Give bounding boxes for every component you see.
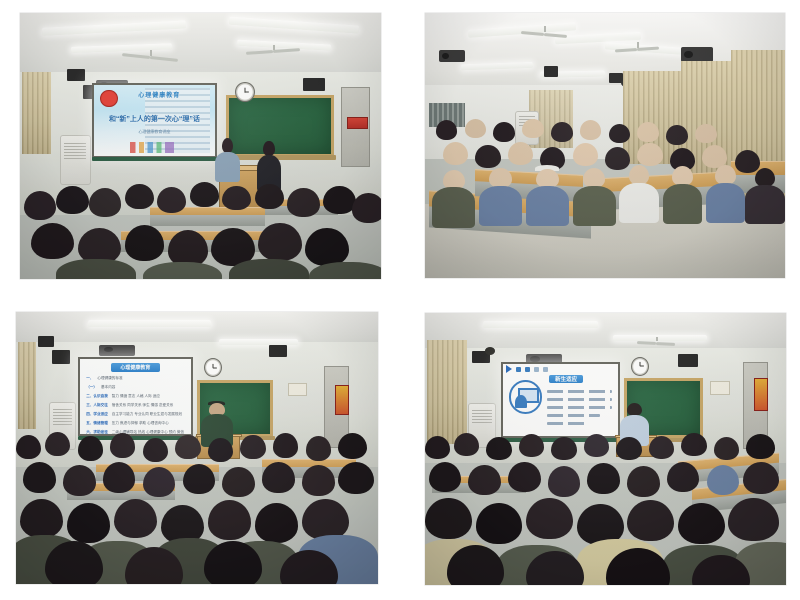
audience-torso <box>229 259 308 279</box>
slide-content: 心理健康教育 一、心理健康的标准 （一）基本内容 二、认识自我智力 情绪 意志 … <box>80 359 192 434</box>
slide-line-body: 宿舍关系 同学关系 师生 情感 恋爱关系 <box>112 404 174 408</box>
wall-notice <box>335 385 349 415</box>
audience-head <box>476 503 523 544</box>
paragraph-line <box>547 390 613 393</box>
audience-head <box>616 437 641 460</box>
person-torso <box>526 186 569 226</box>
lecture-hall-scene-1: 心理健康教育 和“新”上人的第一次心“理”话 心理健康教育讲座 <box>20 13 381 279</box>
toolbar-dot-icon <box>534 367 539 372</box>
audience-head <box>190 182 219 206</box>
ceiling-fan <box>634 337 677 348</box>
audience-head <box>743 462 779 494</box>
slide-decoration <box>130 142 173 153</box>
audience-head <box>323 186 355 214</box>
audience-head <box>306 436 331 460</box>
wall-notice <box>754 378 768 411</box>
audience-head <box>429 462 461 492</box>
person-head <box>222 138 234 153</box>
person-torso <box>663 184 703 224</box>
audience-person <box>432 170 475 226</box>
person-torso <box>432 187 475 227</box>
slide-paragraph <box>547 390 613 430</box>
audience-head <box>16 435 41 459</box>
audience-head <box>258 223 301 261</box>
audience-head <box>31 223 74 260</box>
audience-head <box>443 142 468 165</box>
slide-title-text: 和“新”上人的第一次心“理”话 <box>99 114 210 124</box>
audience-head <box>714 437 739 460</box>
ceiling-fan <box>519 26 569 42</box>
paragraph-line <box>547 414 601 417</box>
photo-top-right[interactable]: Wide view of seated students facing the … <box>425 13 785 278</box>
audience-head <box>695 124 717 144</box>
slide-line: 四、学业适应自主学习能力 专业认同 职业生涯与发展规划 <box>86 413 186 417</box>
wall-speaker <box>269 345 287 357</box>
audience-head <box>287 188 319 216</box>
audience-person <box>479 168 522 224</box>
audience-head <box>208 438 233 462</box>
audience-person <box>663 166 703 222</box>
audience-person <box>573 168 616 224</box>
person-head <box>715 165 736 185</box>
audience-head <box>255 184 284 210</box>
ceiling-fan <box>244 45 302 58</box>
audience-head <box>425 436 450 459</box>
slide-toolbar <box>506 366 552 372</box>
audience-head <box>609 124 631 144</box>
slide-line: 一、心理健康的标准 <box>86 377 186 381</box>
audience-head <box>208 500 251 540</box>
audience-head <box>125 184 154 210</box>
lecture-hall-scene-3: 心理健康教育 一、心理健康的标准 （一）基本内容 二、认识自我智力 情绪 意志 … <box>16 312 378 584</box>
lecture-hall-scene-4: 新生适应 <box>425 313 786 585</box>
slide-line-body: 基本内容 <box>101 386 115 390</box>
audience-head <box>24 191 56 220</box>
projector <box>439 50 464 62</box>
audience-head <box>519 434 544 457</box>
audience-head <box>125 225 165 260</box>
slide-header-text: 心理健康教育 <box>111 363 160 371</box>
audience-head <box>584 434 609 457</box>
photo-collage: Freshman psychological health education … <box>0 0 800 600</box>
play-icon <box>506 365 512 373</box>
slide-line-body: 压力 焦虑与抑郁 求助 心理咨询中心 <box>112 422 169 426</box>
wall-clock <box>631 357 649 376</box>
person-head <box>627 403 642 416</box>
audience-head <box>143 467 176 497</box>
ceiling-fan <box>121 50 179 63</box>
person-head <box>629 165 650 185</box>
slide-subtitle-text: 心理健康教育讲座 <box>99 129 210 135</box>
audience-head <box>425 498 472 539</box>
audience-head <box>338 462 374 494</box>
wall-clock <box>235 82 255 102</box>
photo-bottom-left[interactable]: 心理健康教育 一、心理健康的标准 （一）基本内容 二、认识自我智力 情绪 意志 … <box>16 312 378 584</box>
audience-head <box>667 462 699 492</box>
wall-speaker <box>544 66 558 77</box>
slide-outline: 一、心理健康的标准 （一）基本内容 二、认识自我智力 情绪 意志 人格 人际 适… <box>86 377 186 434</box>
wall-notice <box>288 383 308 397</box>
person-head <box>583 168 605 188</box>
audience-head <box>526 498 573 539</box>
slide-line: （一）基本内容 <box>86 386 186 390</box>
person-torso <box>706 183 746 223</box>
toolbar-dot-icon <box>525 367 530 372</box>
toolbar-dot-icon <box>543 367 548 372</box>
presenter-figure-icon <box>515 395 527 408</box>
audience-head <box>548 466 580 496</box>
slide-line: 五、情绪管理压力 焦虑与抑郁 求助 心理咨询中心 <box>86 422 186 426</box>
audience <box>425 114 785 278</box>
audience-head <box>728 498 779 541</box>
audience-head <box>222 186 251 210</box>
audience-head <box>678 503 725 544</box>
projection-screen: 心理健康教育 一、心理健康的标准 （一）基本内容 二、认识自我智力 情绪 意志 … <box>78 357 194 436</box>
slide-line-tag: 一、 <box>86 377 93 381</box>
wall-notice <box>710 381 730 395</box>
audience-head <box>183 464 216 494</box>
audience-head <box>255 503 298 543</box>
slide-line-body: 智力 情绪 意志 人格 人际 适应 <box>112 395 160 399</box>
ceiling-fan <box>612 42 662 58</box>
audience-head <box>468 465 500 495</box>
slide-line: 三、人际交往宿舍关系 同学关系 师生 情感 恋爱关系 <box>86 404 186 408</box>
person-torso <box>619 183 659 223</box>
window-curtain <box>18 342 36 429</box>
audience-head <box>63 465 96 495</box>
person-head <box>489 168 511 188</box>
lecture-hall-scene-2 <box>425 13 785 278</box>
ceiling-light <box>88 320 211 327</box>
audience <box>425 433 786 585</box>
audience-head <box>302 499 349 540</box>
audience-head <box>475 145 500 168</box>
audience-person <box>706 165 746 221</box>
audience-head <box>262 462 295 492</box>
audience-head <box>508 462 540 492</box>
wall-speaker <box>52 350 70 364</box>
audience-head <box>746 434 775 458</box>
audience-torso <box>56 259 135 279</box>
person-torso <box>573 186 616 226</box>
audience-head <box>681 433 706 456</box>
audience-head <box>493 122 515 142</box>
window-curtain <box>22 72 51 154</box>
projection-screen: 新生适应 <box>501 362 620 438</box>
audience-head <box>465 119 487 139</box>
slide-content: 新生适应 <box>503 364 618 436</box>
slide-line-tag: （一） <box>86 386 97 390</box>
audience-head <box>56 186 88 214</box>
audience-person <box>745 168 785 222</box>
presenter-icon <box>509 380 543 414</box>
audience-person <box>526 166 569 224</box>
audience-head <box>637 143 662 166</box>
audience-head <box>240 435 265 459</box>
audience-head <box>305 228 348 266</box>
audience-head <box>23 462 56 492</box>
audience-head <box>486 437 511 460</box>
audience-head <box>89 188 121 216</box>
audience-head <box>551 437 576 460</box>
wall-speaker <box>303 78 325 91</box>
audience-head <box>175 435 200 459</box>
audience <box>20 157 381 279</box>
photo-bottom-right[interactable]: 新生适应 <box>425 313 786 585</box>
slide-line-tag: 四、学业适应 <box>86 413 108 417</box>
audience-head <box>157 187 186 213</box>
audience-head <box>637 122 659 142</box>
audience-head <box>508 142 533 165</box>
audience-head <box>273 433 298 457</box>
audience-head <box>580 120 602 140</box>
paragraph-line <box>547 422 589 425</box>
audience-head <box>649 436 674 459</box>
audience-head <box>436 120 458 140</box>
audience-head <box>447 545 505 585</box>
slide-content: 心理健康教育 和“新”上人的第一次心“理”话 心理健康教育讲座 <box>94 85 215 155</box>
paragraph-line <box>547 406 613 409</box>
audience-head <box>352 193 381 222</box>
audience-torso <box>143 262 222 279</box>
audience-head <box>587 463 619 493</box>
audience <box>16 432 378 584</box>
audience-head <box>103 462 136 492</box>
projection-screen: 心理健康教育 和“新”上人的第一次心“理”话 心理健康教育讲座 <box>92 83 217 157</box>
audience-person <box>619 165 659 221</box>
audience-head <box>627 500 674 541</box>
audience-head <box>222 467 255 497</box>
audience-head <box>110 433 135 457</box>
wall-notice <box>347 117 369 129</box>
audience-head <box>78 436 103 460</box>
wall-speaker <box>678 354 698 368</box>
audience-head <box>573 143 598 166</box>
person-torso <box>479 186 522 226</box>
audience-head <box>302 465 335 495</box>
audience-head <box>666 125 688 145</box>
window-curtain <box>427 340 467 443</box>
person-torso <box>745 185 785 224</box>
toolbar-dot-icon <box>516 367 521 372</box>
slide-line-tag: 三、人际交往 <box>86 404 108 408</box>
slide-line-body: 自主学习能力 专业认同 职业生涯与发展规划 <box>112 413 182 417</box>
slide-banner-text: 心理健康教育 <box>123 89 195 100</box>
audience-head <box>627 466 659 496</box>
audience-head <box>20 499 63 539</box>
slide-line-body: 心理健康的标准 <box>97 377 122 381</box>
slide-line-tag: 二、认识自我 <box>86 395 108 399</box>
audience-head <box>522 119 544 139</box>
ceiling-light <box>483 321 599 328</box>
audience-head <box>45 432 70 456</box>
slide-header-text: 新生适应 <box>549 375 584 383</box>
wall-speaker <box>38 336 54 347</box>
slide-line-tag: 五、情绪管理 <box>86 422 108 426</box>
audience-head <box>143 438 168 462</box>
projector <box>99 345 135 356</box>
person-head <box>263 141 275 157</box>
audience-head <box>551 122 573 142</box>
audience-head <box>454 433 479 456</box>
slide-line: 二、认识自我智力 情绪 意志 人格 人际 适应 <box>86 395 186 399</box>
photo-top-left[interactable]: 心理健康教育 和“新”上人的第一次心“理”话 心理健康教育讲座 <box>20 13 381 279</box>
audience-head <box>67 503 110 543</box>
wall-speaker <box>67 69 85 81</box>
audience-head <box>338 433 367 459</box>
audience-head <box>114 499 157 539</box>
paragraph-line <box>547 398 613 401</box>
school-seal-icon <box>100 90 118 108</box>
audience-head <box>707 465 739 495</box>
